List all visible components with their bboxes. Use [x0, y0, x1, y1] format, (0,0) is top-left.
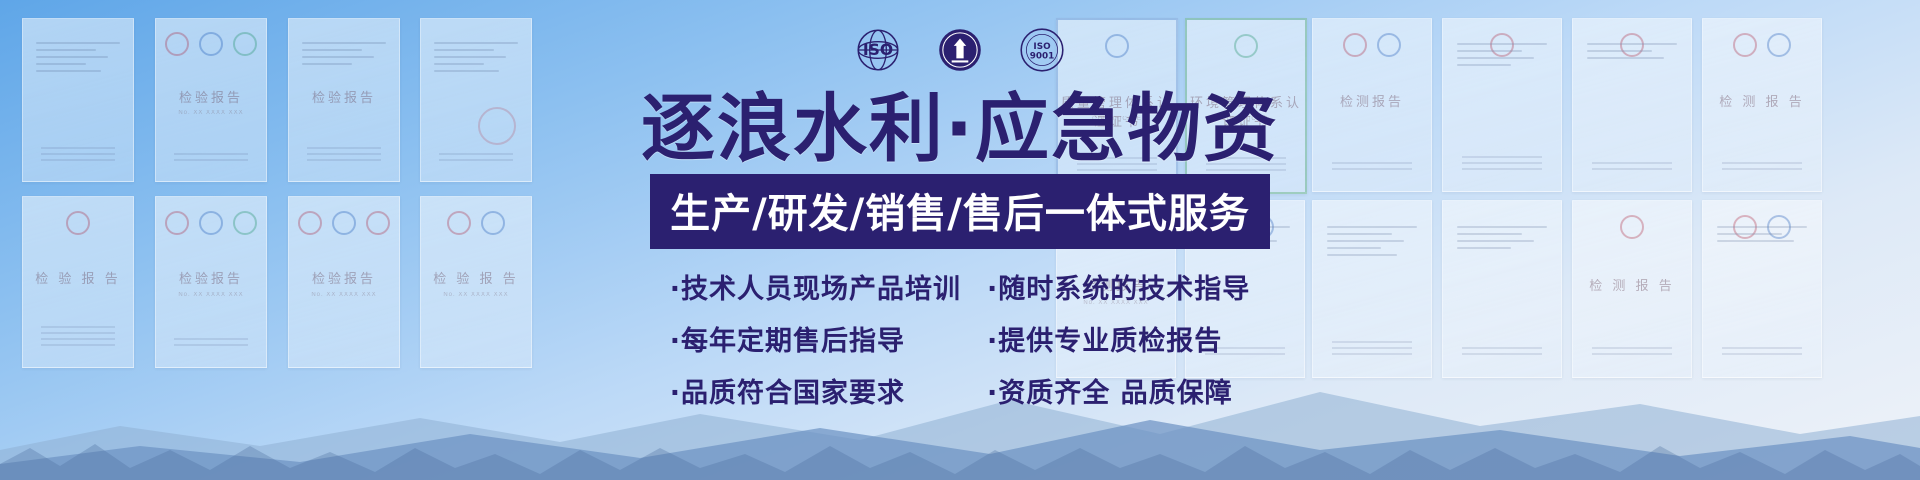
feature-item: ·随时系统的技术指导: [987, 267, 1250, 306]
svg-text:ISO: ISO: [863, 41, 893, 59]
banner-subtitle-bar: 生产/研发/销售/售后一体式服务: [650, 174, 1270, 249]
iso-globe-badge-icon: ISO: [852, 24, 904, 76]
feature-list: ·技术人员现场产品培训 ·随时系统的技术指导 ·每年定期售后指导 ·提供专业质检…: [670, 267, 1251, 410]
iso-9001-seal-badge-icon: ISO 9001: [1016, 24, 1068, 76]
feature-item: ·每年定期售后指导: [670, 319, 961, 358]
svg-text:ISO: ISO: [1033, 42, 1051, 52]
feature-item: ·品质符合国家要求: [670, 371, 961, 410]
feature-item: ·资质齐全 品质保障: [987, 371, 1250, 410]
certification-badge-row: ISO ISO 9001: [852, 24, 1068, 76]
feature-item: ·技术人员现场产品培训: [670, 267, 961, 306]
feature-item: ·提供专业质检报告: [987, 319, 1250, 358]
cqc-seal-badge-icon: [934, 24, 986, 76]
promo-banner: 检验报告 No. XX XXXX XXX 检验报告 检 验 报 告 检验报告 N…: [0, 0, 1920, 480]
svg-text:9001: 9001: [1030, 51, 1055, 61]
banner-content: ISO ISO 9001 逐浪水利·应急物资 生产/研发/销售/售后一体式服务 …: [0, 0, 1920, 480]
banner-title: 逐浪水利·应急物资: [641, 92, 1279, 166]
